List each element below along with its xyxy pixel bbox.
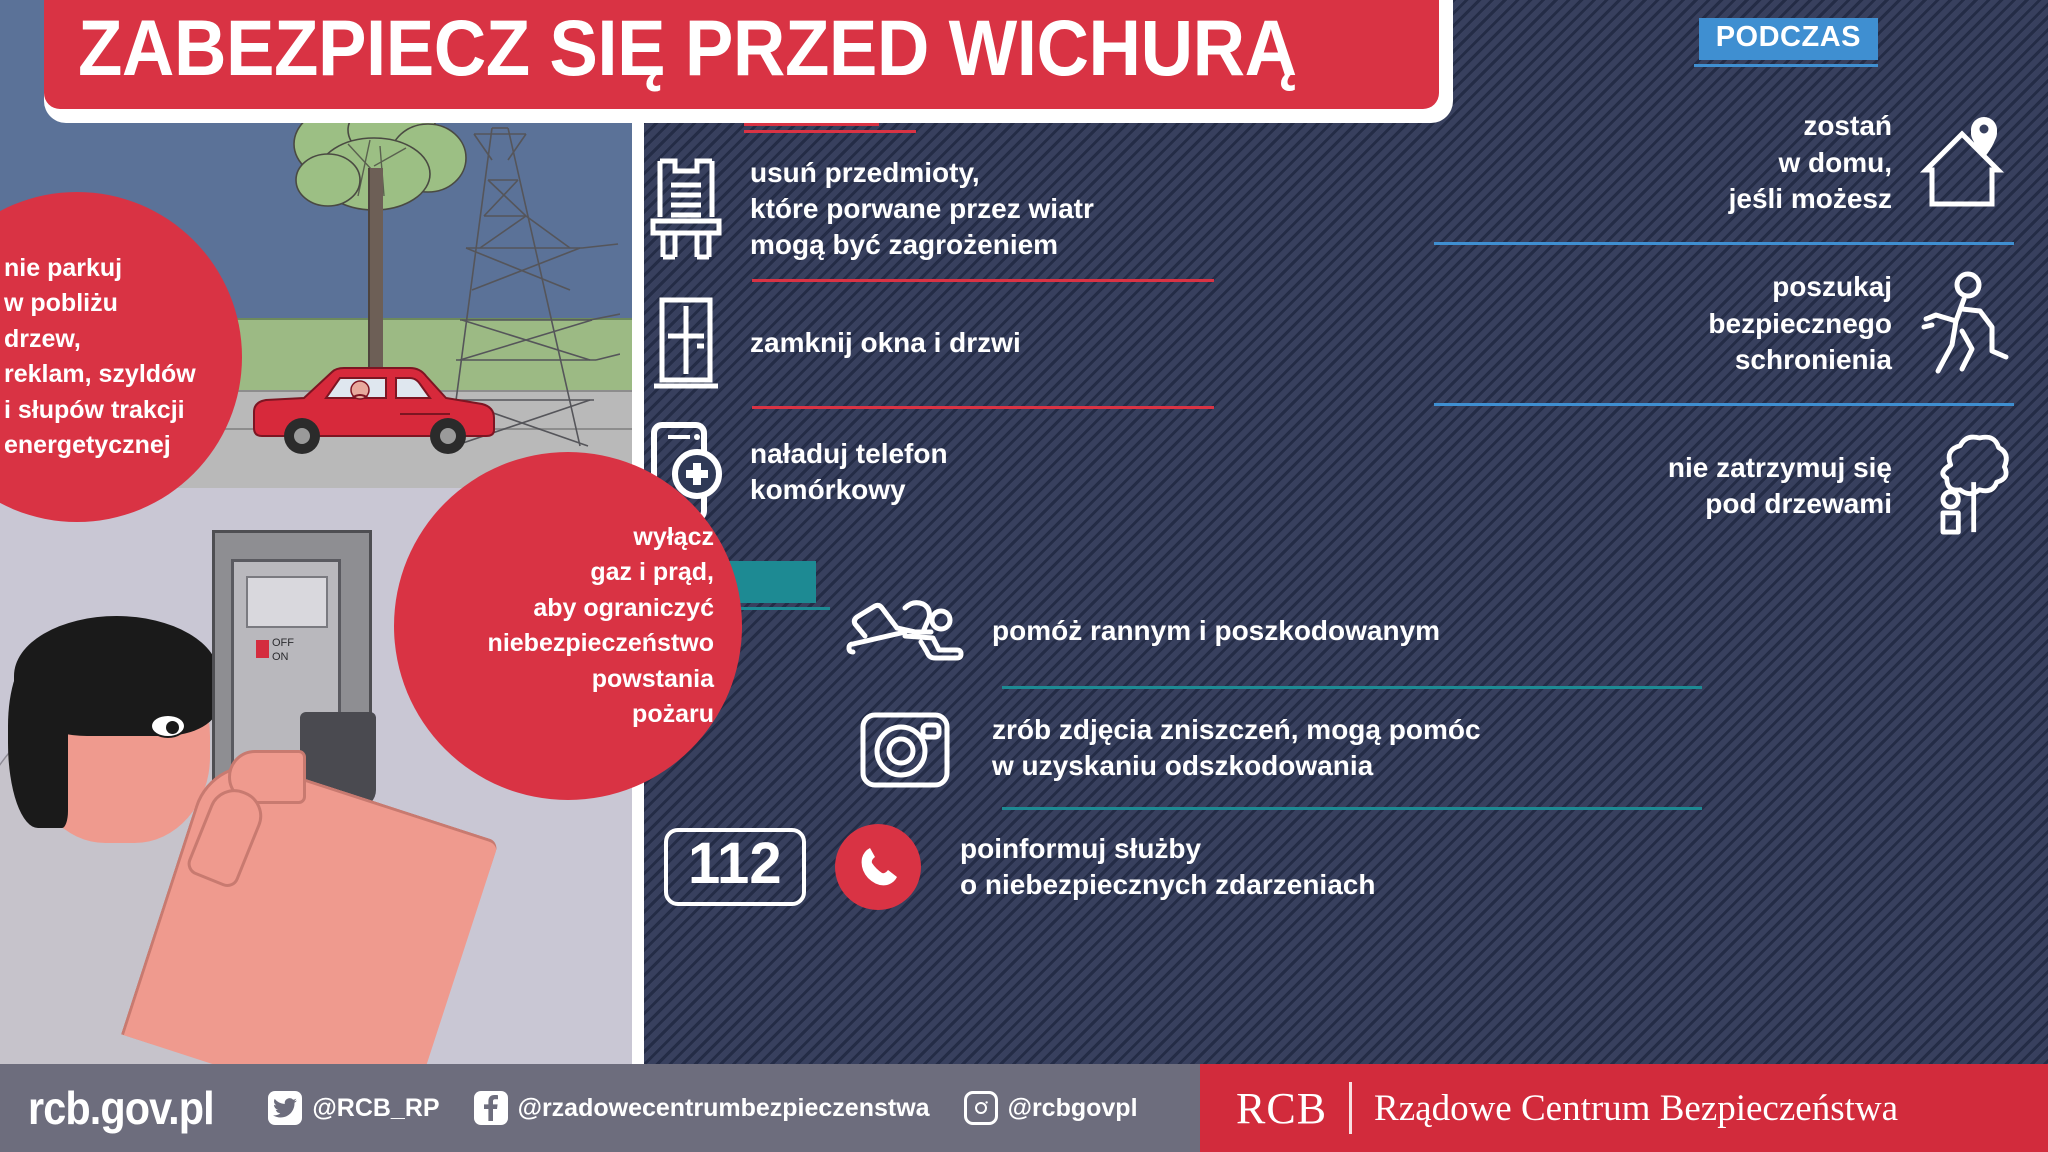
- przed-divider-1: [752, 279, 1214, 282]
- warning-circle-gas-text: wyłącz gaz i prąd, aby ograniczyć niebez…: [452, 520, 714, 733]
- przed-item-door: zamknij okna i drzwi: [644, 292, 1224, 394]
- przed-item-phone: naładuj telefon komórkowy: [644, 419, 1224, 525]
- rcb-abbreviation: RCB: [1236, 1083, 1327, 1134]
- podczas-divider-1: [1434, 242, 2014, 245]
- title-bar: ZABEZPIECZ SIĘ PRZED WICHURĄ: [44, 0, 1439, 109]
- podczas-item-home: zostań w domu, jeśli możesz: [1232, 108, 2014, 218]
- instagram-link[interactable]: @rcbgovpl: [964, 1091, 1138, 1125]
- website-url[interactable]: rcb.gov.pl: [28, 1081, 214, 1135]
- podczas-column: PODCZAS zostań w domu, jeśli możesz posz…: [1232, 0, 2048, 1064]
- przed-badge-underline: [744, 130, 916, 133]
- instagram-handle: @rcbgovpl: [1008, 1094, 1138, 1123]
- emergency-call-icon: [830, 824, 926, 910]
- facebook-link[interactable]: @rzadowecentrumbezpieczenstwa: [474, 1091, 930, 1125]
- podczas-item-shelter: poszukaj bezpiecznego schronienia: [1232, 269, 2014, 379]
- instagram-icon: [964, 1091, 998, 1125]
- podczas-badge: PODCZAS: [1699, 18, 1878, 60]
- warning-circle-gas: wyłącz gaz i prąd, aby ograniczyć niebez…: [394, 452, 742, 800]
- footer-left: rcb.gov.pl @RCB_RP @rzadowecentrumbezpie…: [0, 1081, 1138, 1135]
- title-container: ZABEZPIECZ SIĘ PRZED WICHURĄ: [44, 0, 1453, 123]
- red-car: [240, 358, 505, 458]
- emergency-number-112: 112: [664, 828, 806, 907]
- man-eye: [150, 714, 186, 738]
- przed-divider-2: [752, 406, 1214, 409]
- twitter-handle: @RCB_RP: [312, 1094, 439, 1123]
- rcb-full-name: Rządowe Centrum Bezpieczeństwa: [1374, 1087, 1898, 1130]
- rcb-logo-divider: [1349, 1082, 1352, 1134]
- injured-person-icon: [840, 592, 970, 670]
- podczas-badge-underline: [1694, 64, 1878, 67]
- fuse-box-panel: OFF ON: [231, 559, 341, 769]
- fuse-labels: OFF ON: [272, 636, 332, 666]
- camera-icon: [840, 703, 970, 793]
- facebook-handle: @rzadowecentrumbezpieczenstwa: [518, 1094, 930, 1123]
- twitter-icon: [268, 1091, 302, 1125]
- podczas-item-trees-text: nie zatrzymuj się pod drzewami: [1668, 450, 1892, 523]
- door-icon: [644, 292, 728, 394]
- page-title: ZABEZPIECZ SIĘ PRZED WICHURĄ: [78, 8, 1297, 87]
- przed-item-door-text: zamknij okna i drzwi: [750, 325, 1021, 361]
- fuse-off-label: OFF: [272, 636, 332, 650]
- phone-circle: [835, 824, 921, 910]
- house-pin-icon: [1918, 108, 2014, 218]
- podczas-divider-2: [1434, 403, 2014, 406]
- rcb-logo-block: RCB Rządowe Centrum Bezpieczeństwa: [1200, 1064, 2048, 1152]
- podczas-badge-wrap: PODCZAS: [1694, 18, 1878, 67]
- podczas-item-shelter-text: poszukaj bezpiecznego schronienia: [1708, 269, 1892, 378]
- fuse-on-label: ON: [272, 650, 332, 664]
- tree-person-icon: [1918, 430, 2014, 542]
- przed-item-chair: usuń przedmioty, które porwane przez wia…: [644, 155, 1224, 263]
- warning-circle-parking-text: nie parkuj w pobliżu drzew, reklam, szyl…: [4, 251, 222, 464]
- podczas-items-list: zostań w domu, jeśli możesz poszukaj bez…: [1232, 108, 2048, 542]
- running-person-icon: [1918, 269, 2014, 379]
- footer-bar: rcb.gov.pl @RCB_RP @rzadowecentrumbezpie…: [0, 1064, 2048, 1152]
- podczas-item-home-text: zostań w domu, jeśli możesz: [1729, 108, 1892, 217]
- infographic-poster: OFF ON nie p: [0, 0, 2048, 1152]
- podczas-item-trees: nie zatrzymuj się pod drzewami: [1232, 430, 2014, 542]
- man-sideburn: [8, 658, 68, 828]
- przed-item-phone-text: naładuj telefon komórkowy: [750, 436, 948, 508]
- fuse-box-display: [246, 576, 328, 628]
- fuse-switch: [256, 640, 269, 658]
- chair-icon: [644, 155, 728, 263]
- przed-item-chair-text: usuń przedmioty, które porwane przez wia…: [750, 155, 1094, 262]
- emergency-number-badge: 112: [664, 828, 796, 907]
- twitter-link[interactable]: @RCB_RP: [268, 1091, 439, 1125]
- facebook-icon: [474, 1091, 508, 1125]
